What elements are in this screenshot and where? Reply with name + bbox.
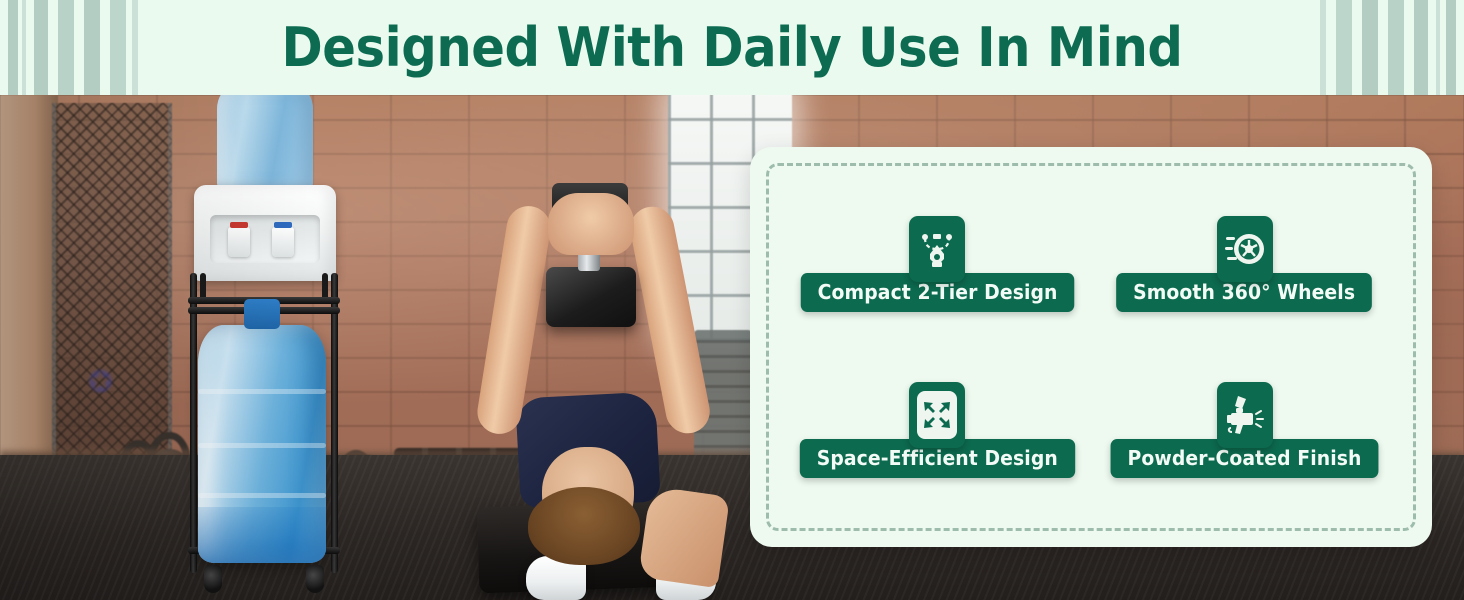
product-feature-banner: Designed With Daily Use In Mind ✪: [0, 0, 1464, 600]
cart-caster-wheel: [204, 565, 222, 593]
feature-item-compact-2-tier-design[interactable]: Compact 2-Tier Design: [792, 216, 1083, 312]
wheel-icon: [1217, 216, 1273, 282]
chain-link-fence: [52, 103, 172, 481]
feature-item-space-efficient-design[interactable]: Space-Efficient Design: [791, 382, 1084, 478]
banner-header: Designed With Daily Use In Mind: [0, 0, 1464, 95]
cart-rail-left: [190, 273, 197, 573]
hair: [528, 487, 640, 565]
fence-graffiti: ✪: [88, 365, 134, 417]
pen-tool-icon: [909, 216, 965, 282]
water-cooler-cart: [180, 95, 360, 600]
leg: [638, 486, 730, 588]
jug-rib: [198, 389, 326, 394]
feature-item-powder-coated-finish[interactable]: Powder-Coated Finish: [1102, 382, 1387, 478]
feature-item-smooth-360-wheels[interactable]: Smooth 360° Wheels: [1108, 216, 1380, 312]
cart-rail-right: [331, 273, 338, 573]
jug-rib: [198, 443, 326, 448]
water-jug-bottom: [198, 325, 326, 563]
dispenser-recess: [210, 215, 320, 263]
hot-water-tap: [228, 227, 250, 257]
compress-arrows-icon: [909, 382, 965, 448]
cart-caster-wheel: [306, 565, 324, 593]
jug-rib: [198, 493, 326, 498]
water-dispenser: [194, 185, 336, 281]
dumbbell-weight-head: [546, 267, 636, 327]
icon-plate: [917, 391, 957, 439]
water-jug-top: [217, 95, 313, 189]
page-title: Designed With Daily Use In Mind: [59, 0, 1406, 95]
feature-card: Compact 2-Tier Design: [750, 147, 1432, 547]
hands-gripping-dumbbell: [548, 193, 634, 255]
person-exercising: [430, 95, 760, 600]
wall-pillar: [0, 95, 58, 495]
cold-water-tap: [272, 227, 294, 257]
spray-gun-icon: [1217, 382, 1273, 448]
feature-grid: Compact 2-Tier Design: [784, 181, 1398, 513]
